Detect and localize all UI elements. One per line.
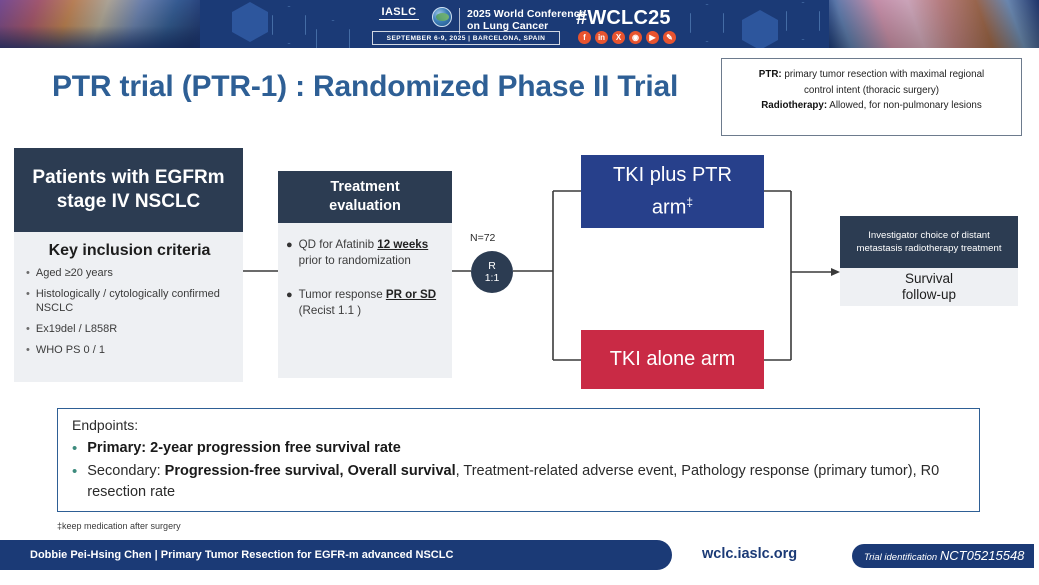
criteria-item: • Ex19del / L858R (26, 322, 233, 336)
treatment-bullet2-pre: Tumor response (299, 288, 386, 301)
outcome-body-line2: follow-up (902, 287, 956, 303)
presenter-footer: Dobbie Pei-Hsing Chen | Primary Tumor Re… (0, 540, 672, 570)
treatment-bullet-text: QD for Afatinib 12 weeks prior to random… (299, 237, 442, 269)
endpoints-box: Endpoints: • Primary: 2-year progression… (57, 408, 980, 512)
arm-tki-plus-ptr-line2: arm‡ (613, 189, 732, 222)
bullet-dot: • (26, 287, 30, 315)
conference-url[interactable]: wclc.iaslc.org (702, 546, 797, 562)
patients-header: Patients with EGFRm stage IV NSCLC (14, 148, 243, 232)
conference-dates: SEPTEMBER 6-9, 2025 | BARCELONA, SPAIN (372, 31, 560, 45)
endpoint-secondary-emphasis: Progression-free survival, Overall survi… (165, 463, 456, 479)
treatment-evaluation-line2: evaluation (329, 197, 401, 216)
randomization-node: R 1:1 (471, 251, 513, 293)
bullet-dot: ● (286, 287, 293, 319)
hexagon-decoration (690, 4, 724, 42)
banner-photo-right (829, 0, 1039, 48)
patients-criteria-panel: Key inclusion criteria • Aged ≥20 years … (14, 232, 243, 382)
facebook-icon[interactable]: f (578, 31, 591, 44)
bullet-dot: ● (286, 237, 293, 269)
arm-tki-alone: TKI alone arm (581, 330, 764, 389)
treatment-evaluation-line1: Treatment (329, 178, 401, 197)
treatment-bullet-text: Tumor response PR or SD (Recist 1.1 ) (299, 287, 442, 319)
randomization-ratio: 1:1 (485, 272, 500, 285)
treatment-bullet1-post: prior to randomization (299, 254, 411, 267)
iaslc-acronym: IASLC (372, 6, 426, 18)
trial-identification-number: NCT05215548 (940, 548, 1025, 563)
conference-hashtag: #WCLC25 (576, 7, 671, 30)
ptr-definition-text: primary tumor resection with maximal reg… (782, 69, 985, 80)
blog-icon[interactable]: ✎ (663, 31, 676, 44)
bullet-dot: • (26, 322, 30, 336)
slide-canvas: IASLC 2025 World Conference on Lung Canc… (0, 0, 1039, 585)
arm-tki-plus-ptr: TKI plus PTR arm‡ (581, 155, 764, 228)
definitions-box: PTR: primary tumor resection with maxima… (721, 58, 1022, 136)
slide-footnote: ‡keep medication after surgery (57, 521, 181, 531)
trial-identification-label: Trial identification (864, 552, 940, 563)
conference-name: 2025 World Conference on Lung Cancer (467, 6, 586, 32)
criteria-item-label: Ex19del / L858R (36, 322, 117, 336)
criteria-item-label: WHO PS 0 / 1 (36, 343, 105, 357)
hexagon-decoration (316, 20, 350, 48)
treatment-bullet2-emphasis: PR or SD (386, 288, 436, 301)
radiotherapy-definition: Radiotherapy: Allowed, for non-pulmonary… (732, 98, 1011, 114)
criteria-item-label: Aged ≥20 years (36, 266, 113, 280)
endpoint-primary: • Primary: 2-year progression free survi… (72, 438, 965, 459)
bullet-dot: • (26, 266, 30, 280)
iaslc-logo: IASLC 2025 World Conference on Lung Canc… (372, 6, 586, 34)
radiotherapy-definition-label: Radiotherapy: (761, 100, 827, 111)
outcome-body-line1: Survival (902, 271, 956, 287)
criteria-item: • Histologically / cytologically confirm… (26, 287, 233, 315)
treatment-evaluation-panel: ● QD for Afatinib 12 weeks prior to rand… (278, 223, 452, 378)
treatment-bullet1-emphasis: 12 weeks (377, 238, 428, 251)
hexagon-decoration (272, 6, 306, 44)
endpoints-title: Endpoints: (72, 417, 965, 433)
banner-photo-left (0, 0, 200, 48)
inclusion-criteria-title: Key inclusion criteria (26, 242, 233, 260)
ptr-definition-label: PTR: (759, 69, 782, 80)
treatment-evaluation-header: Treatment evaluation (278, 171, 452, 223)
ptr-definition: PTR: primary tumor resection with maxima… (732, 67, 1011, 83)
endpoint-secondary: • Secondary: Progression-free survival, … (72, 461, 965, 503)
patients-header-line2: stage IV NSCLC (32, 190, 224, 214)
iaslc-rule (379, 19, 419, 20)
bullet-dot: • (72, 438, 77, 459)
endpoint-primary-label: Primary: 2-year progression free surviva… (87, 438, 401, 459)
outcome-body: Survival follow-up (840, 268, 1018, 306)
treatment-bullet2-post: (Recist 1.1 ) (299, 304, 362, 317)
globe-icon (432, 7, 452, 27)
conference-banner: IASLC 2025 World Conference on Lung Canc… (0, 0, 1039, 48)
criteria-item-label: Histologically / cytologically confirmed… (36, 287, 233, 315)
endpoint-secondary-pre: Secondary: (87, 463, 164, 479)
conference-name-line1: 2025 World Conference (467, 8, 586, 20)
treatment-bullet: ● Tumor response PR or SD (Recist 1.1 ) (286, 287, 442, 319)
arm-tki-plus-ptr-label: arm (652, 196, 686, 218)
x-twitter-icon[interactable]: X (612, 31, 625, 44)
bullet-dot: • (72, 461, 77, 503)
instagram-icon[interactable]: ◉ (629, 31, 642, 44)
iaslc-wordmark: IASLC (372, 6, 426, 20)
trial-identification-pill: Trial identification NCT05215548 (852, 544, 1034, 568)
footnote-marker: ‡ (686, 195, 693, 209)
hexagon-decoration (742, 10, 778, 48)
randomization-letter: R (488, 260, 496, 273)
outcome-header: Investigator choice of distant metastasi… (840, 216, 1018, 268)
criteria-item: • Aged ≥20 years (26, 266, 233, 280)
patients-header-line1: Patients with EGFRm (32, 166, 224, 190)
treatment-bullet: ● QD for Afatinib 12 weeks prior to rand… (286, 237, 442, 269)
bullet-dot: • (26, 343, 30, 357)
arm-tki-plus-ptr-line1: TKI plus PTR (613, 162, 732, 189)
social-links[interactable]: f in X ◉ ▶ ✎ (578, 31, 676, 44)
youtube-icon[interactable]: ▶ (646, 31, 659, 44)
ptr-definition-line2: control intent (thoracic surgery) (732, 83, 1011, 99)
sample-size-label: N=72 (470, 232, 495, 244)
radiotherapy-definition-text: Allowed, for non-pulmonary lesions (827, 100, 982, 111)
criteria-item: • WHO PS 0 / 1 (26, 343, 233, 357)
treatment-bullet1-pre: QD for Afatinib (299, 238, 378, 251)
linkedin-icon[interactable]: in (595, 31, 608, 44)
endpoint-secondary-text: Secondary: Progression-free survival, Ov… (87, 461, 965, 503)
page-title: PTR trial (PTR-1) : Randomized Phase II … (52, 70, 678, 104)
